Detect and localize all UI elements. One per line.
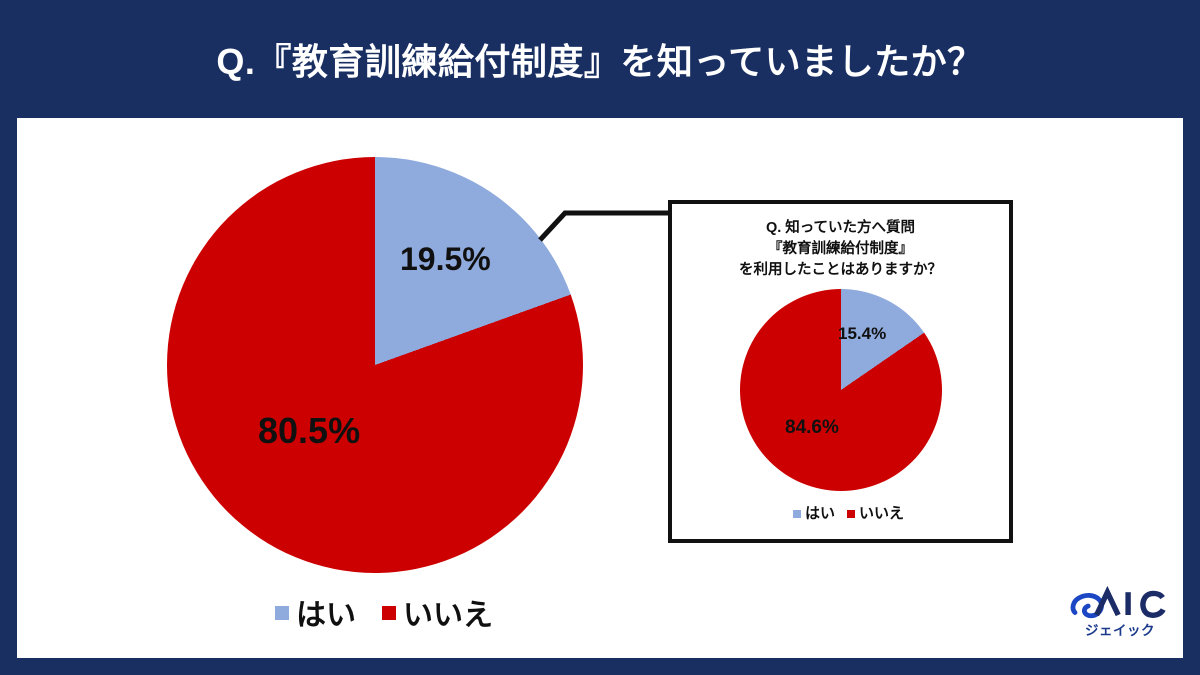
inset-slice-label-iie: 84.6% [785, 417, 839, 439]
legend-swatch-hai-icon [275, 606, 289, 620]
jaic-wordmark-icon [1069, 586, 1171, 620]
inset-legend-label-hai: はい [805, 502, 835, 523]
inset-slice-label-hai: 15.4% [838, 324, 886, 344]
main-slice-label-iie: 80.5% [258, 410, 360, 452]
page-title: Q.『教育訓練給付制度』を知っていましたか？ [216, 33, 983, 85]
main-legend-label-hai: はい [296, 590, 356, 634]
main-legend-label-iie: いいえ [403, 590, 493, 634]
inset-legend-item-iie: いいえ [847, 502, 904, 523]
main-legend: はい いいえ [275, 590, 493, 634]
main-legend-item-hai: はい [275, 590, 356, 634]
inset-legend-item-hai: はい [793, 502, 835, 523]
jaic-logo-subtitle: ジェイック [1085, 619, 1155, 639]
legend-swatch-iie-icon [847, 510, 855, 518]
legend-swatch-hai-icon [793, 510, 801, 518]
main-legend-item-iie: いいえ [382, 590, 493, 634]
slide-root: Q.『教育訓練給付制度』を知っていましたか？ 19.5% 80.5% Q. 知っ… [0, 0, 1200, 675]
inset-legend-label-iie: いいえ [859, 502, 904, 523]
inset-title: Q. 知っていた方へ質問 『教育訓練給付制度』 を利用したことはありますか？ [672, 218, 1009, 281]
legend-swatch-iie-icon [382, 606, 396, 620]
inset-pie-chart [740, 289, 942, 491]
main-slice-label-hai: 19.5% [400, 241, 491, 278]
title-bar: Q.『教育訓練給付制度』を知っていましたか？ [0, 0, 1200, 118]
callout-connector-line [520, 190, 690, 260]
inset-pie-slices [740, 289, 942, 491]
jaic-logo: ジェイック [1068, 586, 1172, 648]
inset-legend: はい いいえ [793, 502, 904, 523]
